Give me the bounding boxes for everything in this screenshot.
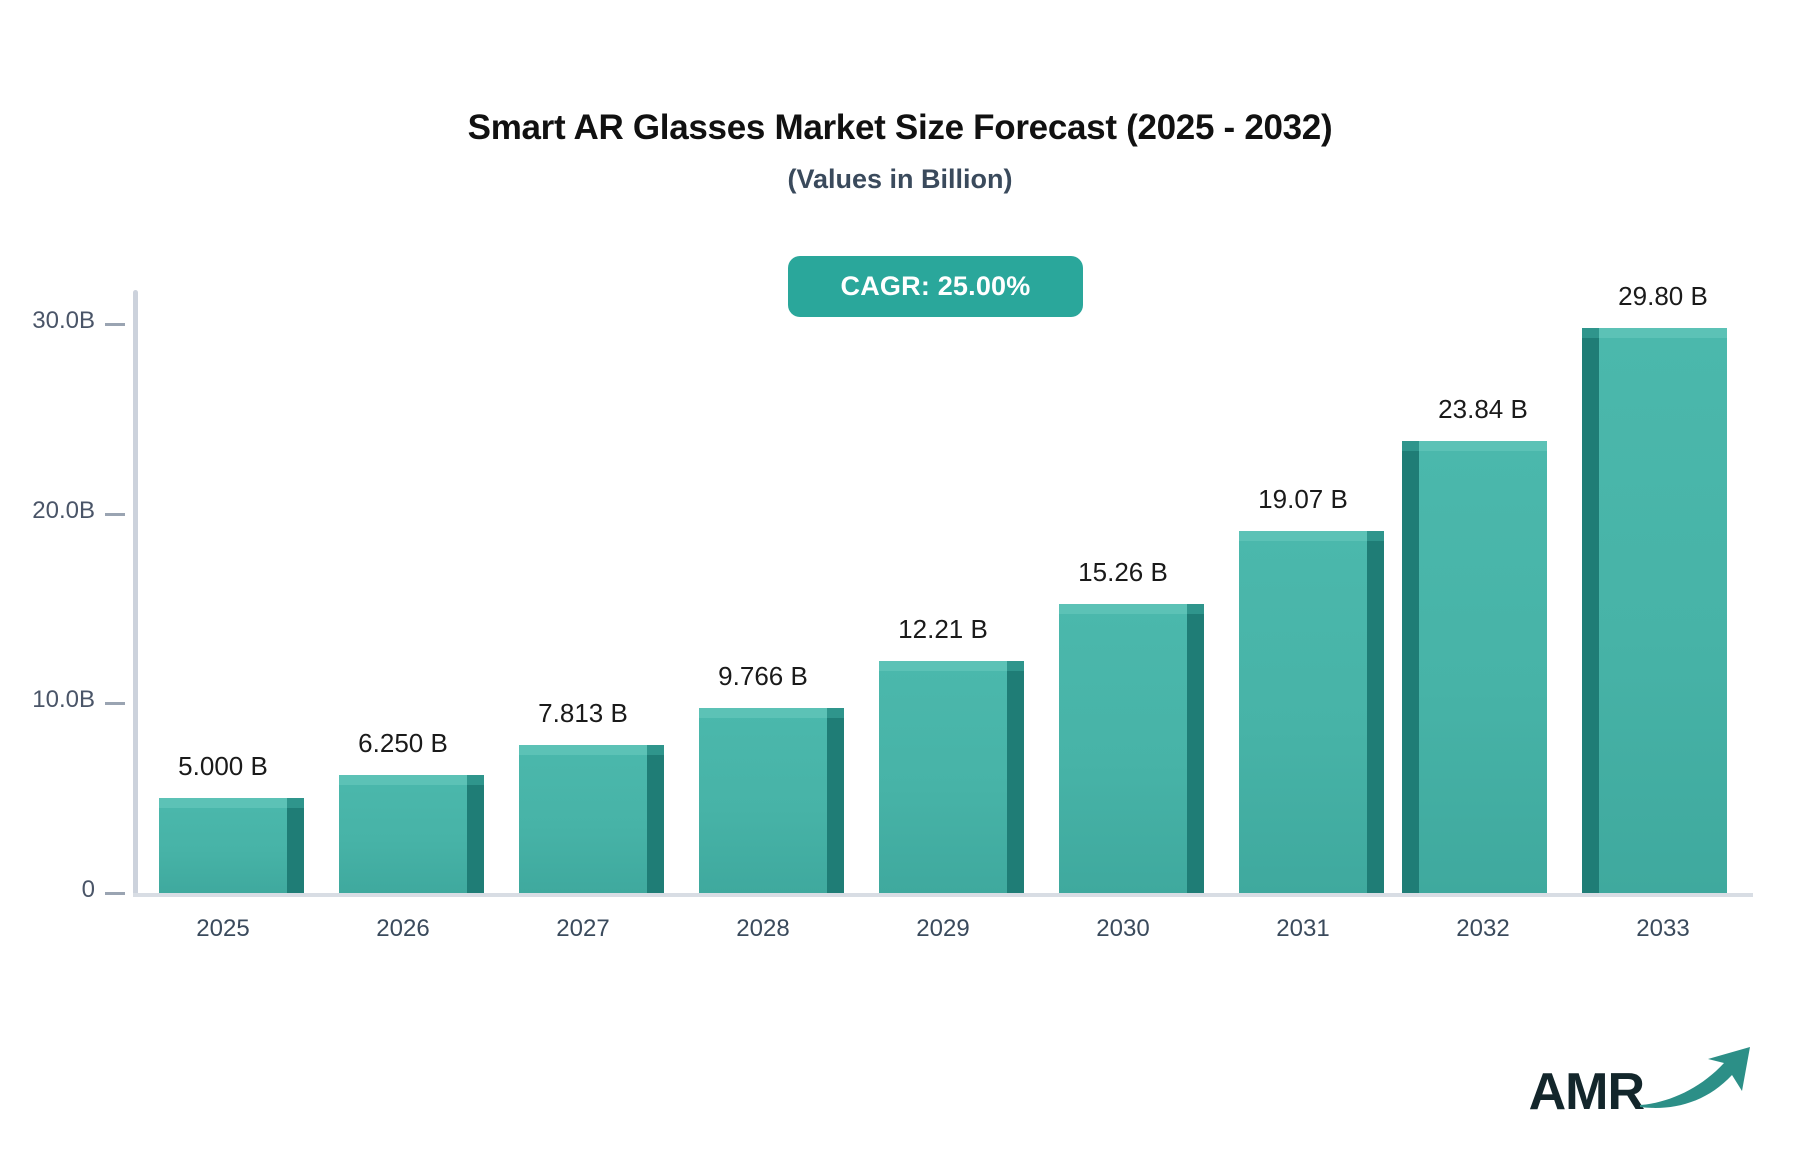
x-axis-label-2027: 2027 (556, 915, 609, 943)
bar-front-face (159, 798, 287, 893)
bar-side-face (647, 751, 664, 893)
bar-body (699, 290, 827, 893)
bar-top-bevel (467, 775, 484, 785)
bar-top-face (1059, 604, 1187, 614)
y-axis-tick-mark (105, 513, 125, 516)
bar-value-label: 9.766 B (718, 661, 808, 692)
x-axis-label-2033: 2033 (1636, 915, 1689, 943)
bar-body (1599, 290, 1727, 893)
x-axis-labels: 202520262027202820292030203120322033 (133, 915, 1753, 955)
growth-arrow-icon (1638, 1045, 1758, 1116)
bar-front-face (519, 745, 647, 893)
bar-2028[interactable]: 9.766 B (699, 290, 827, 893)
bar-2027[interactable]: 7.813 B (519, 290, 647, 893)
plot-area: 010.0B20.0B30.0B 5.000 B6.250 B7.813 B9.… (0, 0, 1800, 1156)
bar-front-face (1419, 441, 1547, 893)
bar-value-label: 5.000 B (178, 751, 268, 782)
bar-body (879, 290, 1007, 893)
y-axis-tick-mark (105, 323, 125, 326)
x-axis-label-2026: 2026 (376, 915, 429, 943)
logo-text: AMR (1529, 1066, 1644, 1118)
bar-side-face (467, 781, 484, 894)
bar-top-face (1239, 531, 1367, 541)
bar-value-label: 12.21 B (898, 614, 988, 645)
bar-body (159, 290, 287, 893)
x-axis-label-2025: 2025 (196, 915, 249, 943)
bar-side-face (1187, 610, 1204, 893)
bar-2030[interactable]: 15.26 B (1059, 290, 1187, 893)
bar-top-bevel (1007, 661, 1024, 671)
y-axis-tick-label: 0 (82, 876, 95, 904)
x-axis-label-2031: 2031 (1276, 915, 1329, 943)
x-axis-label-2028: 2028 (736, 915, 789, 943)
bar-front-face (1059, 604, 1187, 893)
bar-top-face (1419, 441, 1547, 451)
bar-value-label: 23.84 B (1438, 394, 1528, 425)
y-axis-tick-label: 20.0B (32, 497, 95, 525)
bar-2033[interactable]: 29.80 B (1599, 290, 1727, 893)
bar-body (339, 290, 467, 893)
bar-side-face (827, 714, 844, 893)
bars-layer: 5.000 B6.250 B7.813 B9.766 B12.21 B15.26… (133, 290, 1753, 893)
bar-front-face (1599, 328, 1727, 893)
bar-top-face (159, 798, 287, 808)
x-axis-label-2029: 2029 (916, 915, 969, 943)
bar-value-label: 7.813 B (538, 698, 628, 729)
x-axis-label-2032: 2032 (1456, 915, 1509, 943)
bar-value-label: 29.80 B (1618, 281, 1708, 312)
bar-front-face (699, 708, 827, 893)
bar-2025[interactable]: 5.000 B (159, 290, 287, 893)
bar-front-face (879, 661, 1007, 893)
bar-top-face (339, 775, 467, 785)
bar-top-bevel (1582, 328, 1599, 338)
bar-side-face (287, 804, 304, 893)
bar-value-label: 19.07 B (1258, 484, 1348, 515)
bar-body (1419, 290, 1547, 893)
bar-2031[interactable]: 19.07 B (1239, 290, 1367, 893)
bar-top-face (879, 661, 1007, 671)
bar-top-face (1599, 328, 1727, 338)
y-axis-tick-label: 10.0B (32, 686, 95, 714)
bar-top-bevel (1367, 531, 1384, 541)
y-axis-tick-mark (105, 892, 125, 895)
bar-front-face (1239, 531, 1367, 893)
bar-2029[interactable]: 12.21 B (879, 290, 1007, 893)
x-axis-label-2030: 2030 (1096, 915, 1149, 943)
chart-container: Smart AR Glasses Market Size Forecast (2… (0, 0, 1800, 1156)
bar-2032[interactable]: 23.84 B (1419, 290, 1547, 893)
bar-value-label: 15.26 B (1078, 557, 1168, 588)
bar-top-face (699, 708, 827, 718)
bar-top-bevel (1402, 441, 1419, 451)
bar-top-face (519, 745, 647, 755)
bar-body (1059, 290, 1187, 893)
bar-body (519, 290, 647, 893)
bar-value-label: 6.250 B (358, 728, 448, 759)
y-axis-tick-mark (105, 702, 125, 705)
bar-side-face (1367, 537, 1384, 893)
bar-top-bevel (287, 798, 304, 808)
bar-side-face (1402, 447, 1419, 893)
bar-top-bevel (647, 745, 664, 755)
bar-front-face (339, 775, 467, 894)
x-axis-line (133, 893, 1753, 897)
bar-side-face (1007, 667, 1024, 893)
bar-side-face (1582, 334, 1599, 893)
bar-2026[interactable]: 6.250 B (339, 290, 467, 893)
y-axis-tick-label: 30.0B (32, 307, 95, 335)
bar-top-bevel (1187, 604, 1204, 614)
bar-body (1239, 290, 1367, 893)
bar-top-bevel (827, 708, 844, 718)
amr-logo: AMR (1529, 1045, 1758, 1118)
